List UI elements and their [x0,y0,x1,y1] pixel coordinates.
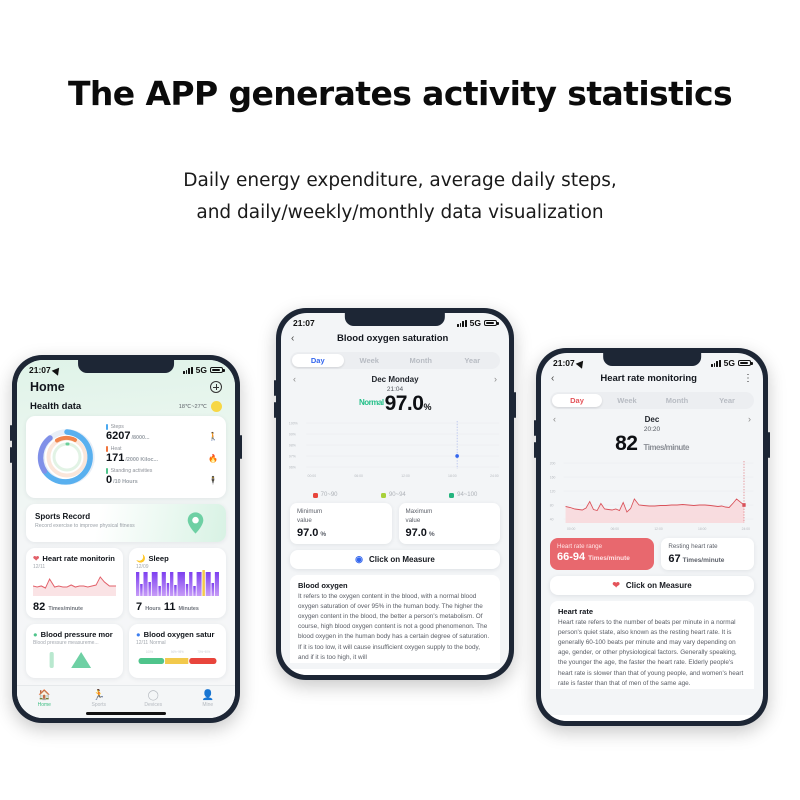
legend-item-mid: 90~94 [381,492,406,498]
notch [603,353,701,366]
svg-text:99%: 99% [289,432,296,436]
tab-home-label: Home [17,702,72,708]
segment-day[interactable]: Day [552,394,602,407]
bottom-tab-bar: 🏠 Home 🏃 Sports ◯ Devices 👤 Mine [17,685,235,718]
more-vertical-icon[interactable]: ⋮ [743,376,753,382]
svg-text:98%: 98% [289,443,296,447]
tab-sports[interactable]: 🏃 Sports [72,690,127,708]
card-blood-oxygen-header: ● Blood oxygen satur [136,630,219,639]
location-arrow-icon [575,358,586,368]
plus-circle-icon[interactable] [210,381,222,393]
promo-page: The APP generates activity statistics Da… [0,0,800,800]
sun-icon [211,401,222,412]
info-panel: Blood oxygen It refers to the oxygen con… [290,575,500,663]
legend-label-mid: 90~94 [389,492,406,498]
minimum-value-row: 97.0% [297,527,385,539]
home-header: Home [17,377,235,394]
chevron-left-icon[interactable]: ‹ [291,333,294,344]
minimum-value-card[interactable]: Minimum value 97.0% [290,503,392,544]
network-label: 5G [196,365,207,375]
prev-date-button[interactable]: ‹ [293,374,296,384]
next-date-button[interactable]: › [494,374,497,384]
spo2-chart: 100%99% 98%97% 96% 00:0006:00 12:0018:00… [287,417,503,479]
tab-devices[interactable]: ◯ Devices [126,690,181,708]
home-indicator [86,712,166,715]
svg-text:70%~90%: 70%~90% [197,650,210,654]
segment-day[interactable]: Day [292,354,344,367]
signal-bars-icon [183,367,192,374]
home-card-grid-1: ❤ Heart rate monitorin 12/11 82 Times/mi… [26,548,226,618]
svg-text:96%: 96% [289,465,296,469]
notch [345,313,445,326]
heart-rate-unit: Times/minute [643,443,688,452]
svg-text:97%: 97% [289,454,296,458]
card-blood-oxygen-title: Blood oxygen satur [144,630,215,639]
spo2-value: 97.0 [385,392,424,415]
blood-oxygen-screen: 21:07 5G ‹ Blood oxygen saturation Day W… [281,313,509,675]
resting-heart-rate-value-row: 67Times/minute [668,553,747,565]
tab-home[interactable]: 🏠 Home [17,690,72,708]
heart-rate-summary-cards: Heart rate range 66-94Times/minute Resti… [541,535,763,570]
date-navigator: ‹ Dec › [541,409,763,424]
svg-text:00:00: 00:00 [567,527,575,531]
page-title: The APP generates activity statistics [0,74,800,113]
subtitle-line-2: and daily/weekly/monthly data visualizat… [0,197,800,229]
svg-text:00:00: 00:00 [308,474,317,478]
power-button[interactable] [514,392,516,418]
watch-icon: ◯ [126,690,181,701]
phone-mockup-heart-rate: 21:07 5G ‹ Heart rate monitoring ⋮ Day W… [536,348,768,726]
notch [78,360,174,373]
location-arrow-icon [51,365,62,375]
health-data-title: Health data [30,401,81,412]
walking-icon: 🚶 [208,432,218,441]
heart-rate-range-value: 66-94 [557,551,585,563]
stat-standing: Standing activities 0 /10 Hours 🕴 [106,468,218,486]
tab-sports-label: Sports [72,702,127,708]
tab-mine-label: Mine [181,702,236,708]
minimum-unit: % [320,531,326,538]
home-card-grid-2: ● Blood pressure mor Blood pressure meas… [26,624,226,678]
stat-heat-value: 171 [106,452,124,464]
measure-button[interactable]: ❤ Click on Measure [550,576,754,595]
svg-text:12:00: 12:00 [654,527,662,531]
status-time: 21:07 [553,358,575,368]
info-body: Heart rate refers to the number of beats… [558,618,746,689]
app-bar: ‹ Heart rate monitoring ⋮ [541,370,763,390]
info-body: It refers to the oxygen content in the b… [298,592,492,663]
svg-text:80: 80 [550,503,554,507]
info-title: Blood oxygen [298,581,492,590]
weather-temp: 18℃~27℃ [179,404,207,410]
heart-rate-range-label: Heart rate range [557,543,647,550]
spo2-chart-container[interactable]: 100%99% 98%97% 96% 00:0006:00 12:0018:00… [287,417,503,489]
heart-icon: ❤ [612,581,620,590]
weather-widget: 18℃~27℃ [179,401,222,412]
power-button[interactable] [240,435,242,459]
info-panel: Heart rate Heart rate refers to the numb… [550,601,754,689]
home-title: Home [30,380,65,394]
stat-steps-value: 6207 [106,430,130,442]
battery-icon [484,320,497,327]
measure-button[interactable]: ◉ Click on Measure [290,550,500,569]
svg-text:06:00: 06:00 [611,527,619,531]
maximum-value-card[interactable]: Maximum value 97.0% [399,503,501,544]
sports-icon: 🏃 [72,690,127,701]
next-date-button[interactable]: › [748,414,751,424]
reading-time: 20:20 [541,426,763,433]
tab-mine[interactable]: 👤 Mine [181,690,236,708]
bp-dot-icon: ● [33,630,38,639]
home-heart-rate-mini-chart [33,570,116,596]
network-label: 5G [724,358,735,368]
resting-heart-rate-card[interactable]: Resting heart rate 67Times/minute [661,538,754,570]
person-icon: 👤 [181,690,236,701]
reading-summary: 21:04 Normal97.0% [281,386,509,415]
map-pin-icon [187,512,204,534]
segment-year[interactable]: Year [702,394,752,407]
card-sleep-title: Sleep [148,554,168,563]
svg-text:40: 40 [550,517,554,521]
maximum-label-2: value [406,517,494,526]
svg-text:12:00: 12:00 [401,474,410,478]
reading-value-row: 82Times/minute [541,433,763,455]
heart-rate-range-card[interactable]: Heart rate range 66-94Times/minute [550,538,654,570]
card-sleep-hours: 7 [136,601,142,613]
reading-summary: 20:20 82Times/minute [541,426,763,455]
resting-heart-rate-value: 67 [668,553,680,565]
home-screen: 21:07 5G Home Health data [17,360,235,718]
blood-pressure-mini-chart [33,646,116,668]
card-heart-rate-value: 82 [33,601,45,613]
status-time: 21:07 [293,318,315,328]
heart-icon: ❤ [33,554,39,563]
stat-standing-label: Standing activities [111,468,153,474]
svg-text:18:00: 18:00 [698,527,706,531]
activity-rings-chart [34,426,100,488]
current-date: Dec Monday [371,375,418,384]
current-date: Dec [645,415,660,424]
card-heart-rate-header: ❤ Heart rate monitorin [33,554,116,563]
heart-rate-range-value-row: 66-94Times/minute [557,551,647,563]
card-sleep-minutes: 11 [164,601,176,613]
card-heart-rate-unit: Times/minute [48,606,83,612]
card-sleep-hours-unit: Hours [145,606,161,612]
segment-week[interactable]: Week [602,394,652,407]
stat-standing-value-row: 0 /10 Hours 🕴 [106,474,218,486]
card-sleep-value-row: 7 Hours 11 Minutes [136,601,219,613]
info-title: Heart rate [558,607,746,616]
maximum-value: 97.0 [406,527,427,539]
svg-text:24:00: 24:00 [490,474,499,478]
card-heart-rate-title: Heart rate monitorin [42,554,115,563]
min-max-cards: Minimum value 97.0% Maximum value 97.0% [281,500,509,544]
network-label: 5G [470,318,481,328]
heart-rate-chart-container[interactable]: 200160 12080 40 00:0006:00 12:0018:00 24… [547,457,757,535]
card-sleep-header: 🌙 Sleep [136,554,219,563]
spo2-unit: % [423,402,431,412]
card-sleep[interactable]: 🌙 Sleep 12/09 [129,548,226,618]
tab-devices-label: Devices [126,702,181,708]
segment-week[interactable]: Week [344,354,396,367]
stat-heat-value-row: 171 /2000 Kiloc... 🔥 [106,452,218,464]
flame-icon: 🔥 [208,454,218,463]
svg-text:06:00: 06:00 [354,474,363,478]
card-blood-pressure[interactable]: ● Blood pressure mor Blood pressure meas… [26,624,123,678]
volume-up-button[interactable] [10,425,12,441]
volume-down-button[interactable] [10,447,12,463]
sports-record-card[interactable]: Sports Record Record exercise to improve… [26,504,226,542]
svg-text:200: 200 [550,461,556,465]
svg-text:94%~99%: 94%~99% [171,650,184,654]
battery-icon [210,367,223,374]
stat-standing-goal: /10 Hours [113,479,138,485]
card-blood-oxygen[interactable]: ● Blood oxygen satur 12/11 Normal 100% 9… [129,624,226,678]
heart-rate-screen: 21:07 5G ‹ Heart rate monitoring ⋮ Day W… [541,353,763,721]
volume-up-button[interactable] [274,380,276,396]
phone-mockup-blood-oxygen: 21:07 5G ‹ Blood oxygen saturation Day W… [276,308,514,680]
prev-date-button[interactable]: ‹ [553,414,556,424]
minimum-label-2: value [297,517,385,526]
svg-text:18:00: 18:00 [448,474,457,478]
signal-bars-icon [457,320,466,327]
period-segmented-control[interactable]: Day Week Month Year [550,392,754,409]
card-heart-rate-value-row: 82 Times/minute [33,601,116,613]
segment-month[interactable]: Month [395,354,447,367]
maximum-label-1: Maximum [406,508,494,517]
blood-oxygen-mini-chart: 100% 94%~99% 70%~90% [136,646,219,668]
svg-text:160: 160 [550,475,556,479]
power-button[interactable] [768,432,770,458]
reading-value-row: Normal97.0% [281,393,509,415]
svg-text:100%: 100% [289,421,298,425]
date-navigator: ‹ Dec Monday › [281,369,509,384]
standing-icon: 🕴 [208,476,218,485]
legend-label-high: 94~100 [457,492,477,498]
status-badge: Normal [359,398,384,407]
svg-text:100%: 100% [146,650,153,654]
legend-item-high: 94~100 [449,492,477,498]
activity-rings-card[interactable]: Steps 6207 /8000... 🚶 Heat [26,416,226,498]
svg-text:24:00: 24:00 [742,527,750,531]
stat-steps-value-row: 6207 /8000... 🚶 [106,430,218,442]
page-heading: Blood oxygen saturation [337,333,448,344]
segment-month[interactable]: Month [652,394,702,407]
page-subtitle: Daily energy expenditure, average daily … [0,165,800,229]
legend-label-low: 70~90 [321,492,338,498]
segment-year[interactable]: Year [447,354,499,367]
maximum-value-row: 97.0% [406,527,494,539]
maximum-unit: % [429,531,435,538]
resting-heart-rate-unit: Times/minute [683,557,725,564]
volume-up-button[interactable] [534,420,536,436]
health-data-header: Health data 18℃~27℃ [17,394,235,416]
home-icon: 🏠 [17,690,72,701]
heart-rate-range-unit: Times/minute [588,555,630,562]
stat-steps: Steps 6207 /8000... 🚶 [106,424,218,442]
card-sleep-minutes-unit: Minutes [179,606,199,612]
period-segmented-control[interactable]: Day Week Month Year [290,352,500,369]
svg-text:120: 120 [550,489,556,493]
measure-button-label: Click on Measure [626,581,692,590]
battery-icon [738,360,751,367]
spo2-dot-icon: ● [136,630,141,639]
spo2-legend: 70~90 90~94 94~100 [281,489,509,500]
minimum-value: 97.0 [297,527,318,539]
stat-standing-value: 0 [106,474,112,486]
app-bar: ‹ Blood oxygen saturation [281,330,509,350]
heart-rate-value: 82 [615,432,637,455]
card-blood-pressure-header: ● Blood pressure mor [33,630,116,639]
stat-heat-goal: /2000 Kiloc... [125,457,158,463]
resting-heart-rate-label: Resting heart rate [668,543,747,552]
heart-rate-chart: 200160 12080 40 00:0006:00 12:0018:00 24… [547,457,757,533]
card-heart-rate[interactable]: ❤ Heart rate monitorin 12/11 82 Times/mi… [26,548,123,618]
volume-down-button[interactable] [274,402,276,418]
card-blood-pressure-title: Blood pressure mor [41,630,113,639]
stat-heat: Heat 171 /2000 Kiloc... 🔥 [106,446,218,464]
home-sleep-mini-chart [136,570,219,596]
phone-mockup-home: 21:07 5G Home Health data [12,355,240,723]
chevron-left-icon[interactable]: ‹ [551,373,554,384]
signal-bars-icon [711,360,720,367]
measure-button-label: Click on Measure [369,555,435,564]
status-time: 21:07 [29,365,51,375]
spo2-icon: ◉ [355,555,363,564]
stat-steps-goal: /8000... [131,435,149,441]
volume-down-button[interactable] [534,442,536,458]
legend-item-low: 70~90 [313,492,338,498]
moon-icon: 🌙 [136,554,145,563]
subtitle-line-1: Daily energy expenditure, average daily … [0,165,800,197]
page-heading: Heart rate monitoring [600,373,697,384]
minimum-label-1: Minimum [297,508,385,517]
activity-stats-list: Steps 6207 /8000... 🚶 Heat [100,424,218,490]
